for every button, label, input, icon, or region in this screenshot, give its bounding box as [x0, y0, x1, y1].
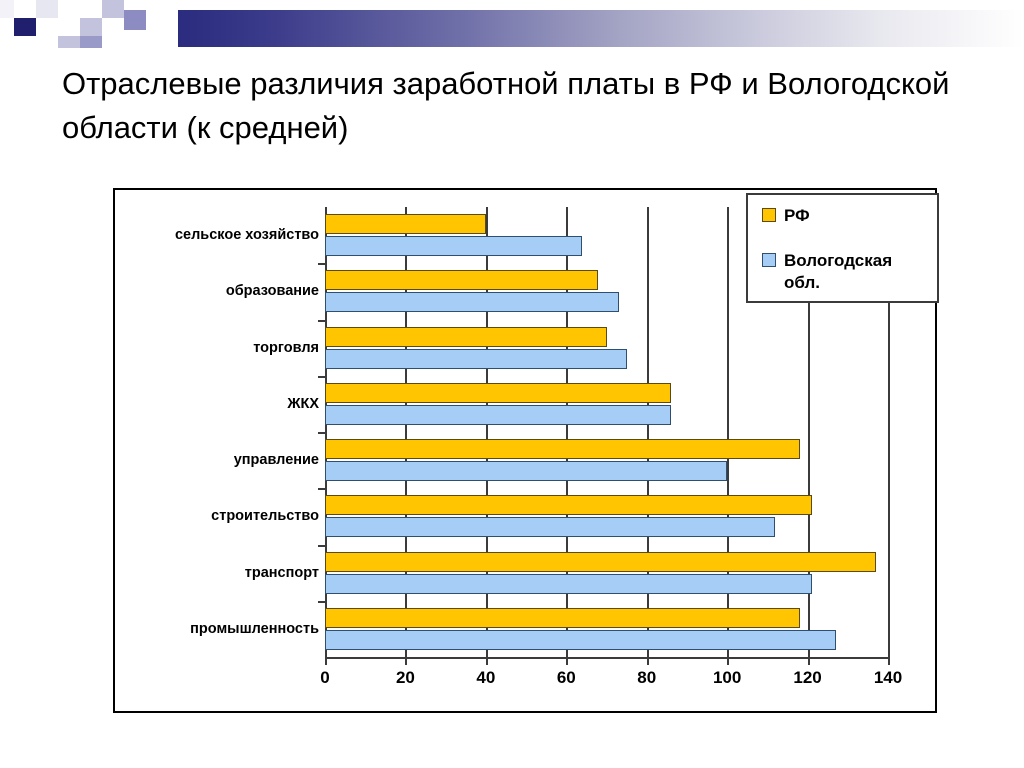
y-tick-5 — [318, 488, 325, 490]
category-label-5: строительство — [123, 508, 319, 524]
bar-vologda-6 — [325, 574, 812, 594]
legend-label-rf: РФ — [784, 205, 810, 227]
y-tick-4 — [318, 432, 325, 434]
bar-vologda-5 — [325, 517, 775, 537]
legend-item-rf: РФ — [762, 205, 810, 227]
x-tick-label-140: 140 — [874, 668, 902, 688]
legend-swatch-icon-rf — [762, 208, 776, 222]
x-tick-140 — [888, 657, 890, 665]
header-gradient-bar — [178, 10, 1024, 47]
bar-vologda-7 — [325, 630, 836, 650]
category-label-1: образование — [123, 283, 319, 299]
category-label-3: ЖКХ — [123, 396, 319, 412]
category-label-4: управление — [123, 452, 319, 468]
x-tick-label-60: 60 — [557, 668, 576, 688]
square-lav-5 — [124, 10, 146, 30]
x-tick-20 — [405, 657, 407, 665]
bar-rf-5 — [325, 495, 812, 515]
bar-vologda-4 — [325, 461, 727, 481]
y-tick-2 — [318, 320, 325, 322]
bar-vologda-2 — [325, 349, 627, 369]
x-tick-label-100: 100 — [713, 668, 741, 688]
bar-rf-4 — [325, 439, 800, 459]
square-pale-1 — [36, 0, 58, 18]
legend-label-vologda: Вологодская обл. — [784, 250, 924, 294]
category-label-6: транспорт — [123, 565, 319, 581]
x-tick-120 — [808, 657, 810, 665]
square-dark-navy — [14, 18, 36, 36]
bar-vologda-1 — [325, 292, 619, 312]
bar-rf-0 — [325, 214, 486, 234]
y-tick-3 — [318, 376, 325, 378]
bar-rf-2 — [325, 327, 607, 347]
square-lav-3 — [80, 36, 102, 48]
bar-rf-7 — [325, 608, 800, 628]
x-tick-label-120: 120 — [793, 668, 821, 688]
category-axis-labels: сельское хозяйствообразованиеторговляЖКХ… — [119, 207, 319, 657]
x-axis-line — [325, 657, 890, 659]
category-label-0: сельское хозяйство — [123, 227, 319, 243]
x-tick-100 — [727, 657, 729, 665]
decorative-header-band — [0, 0, 1024, 48]
chart-container: сельское хозяйствообразованиеторговляЖКХ… — [113, 188, 937, 713]
square-pale-2 — [58, 0, 80, 18]
bar-rf-3 — [325, 383, 671, 403]
x-tick-40 — [486, 657, 488, 665]
page-title: Отраслевые различия заработной платы в Р… — [62, 62, 962, 150]
bar-vologda-0 — [325, 236, 582, 256]
x-tick-label-0: 0 — [320, 668, 329, 688]
y-tick-1 — [318, 263, 325, 265]
square-lav-1 — [80, 18, 102, 36]
bar-rf-6 — [325, 552, 876, 572]
x-tick-label-40: 40 — [476, 668, 495, 688]
x-tick-60 — [566, 657, 568, 665]
square-lav-2 — [58, 36, 80, 48]
category-label-2: торговля — [123, 340, 319, 356]
x-tick-label-80: 80 — [637, 668, 656, 688]
square-lav-4 — [102, 0, 124, 18]
legend-swatch-icon-vologda — [762, 253, 776, 267]
x-tick-label-20: 20 — [396, 668, 415, 688]
bar-vologda-3 — [325, 405, 671, 425]
category-label-7: промышленность — [123, 621, 319, 637]
bar-rf-1 — [325, 270, 598, 290]
square-mid-1 — [58, 18, 80, 36]
x-tick-0 — [325, 657, 327, 665]
y-tick-6 — [318, 545, 325, 547]
square-mid-2 — [36, 36, 58, 48]
square-pale-3 — [0, 0, 14, 18]
legend-item-vologda: Вологодская обл. — [762, 250, 924, 294]
x-tick-80 — [647, 657, 649, 665]
chart-legend: РФ Вологодская обл. — [746, 193, 939, 303]
y-tick-7 — [318, 601, 325, 603]
